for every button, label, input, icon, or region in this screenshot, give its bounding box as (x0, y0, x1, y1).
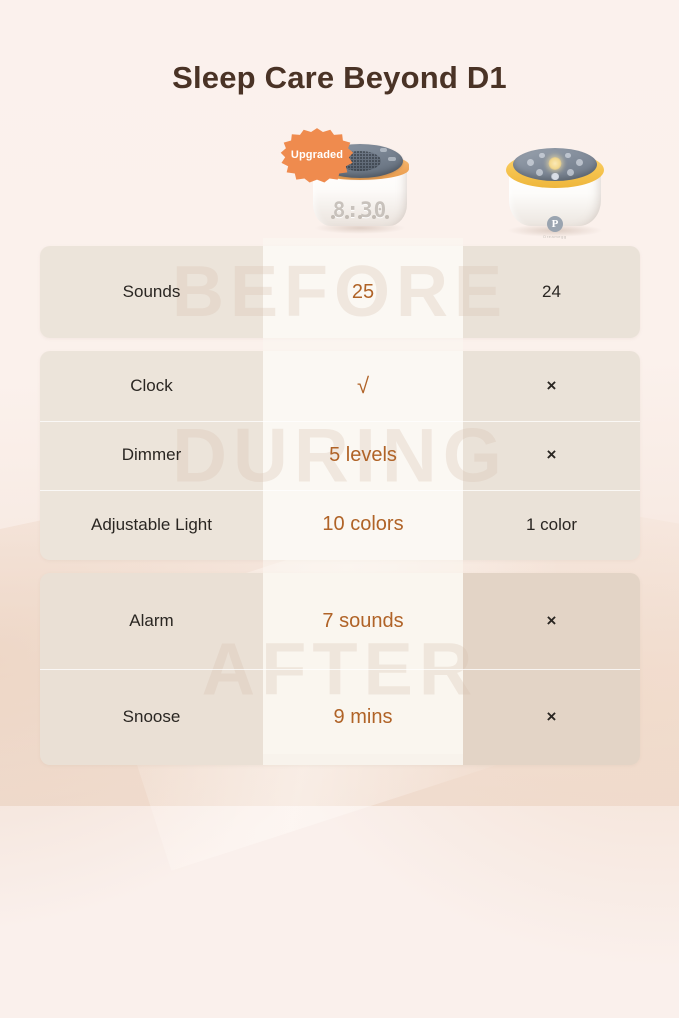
device-button (388, 157, 396, 161)
feature-label: Alarm (40, 573, 263, 669)
new-model-value: 9 mins (263, 669, 463, 765)
indicator-dot-icon (385, 215, 389, 219)
device-button (527, 159, 534, 166)
old-model-value: × (463, 573, 640, 669)
table-row: Sounds 25 24 (40, 246, 640, 338)
old-model-value: × (463, 351, 640, 421)
group-rows: Clock √ × Dimmer 5 levels × Adjustable L… (40, 351, 640, 560)
old-model-value: × (463, 421, 640, 491)
brand-logo-icon: P (547, 216, 563, 232)
page-title: Sleep Care Beyond D1 (0, 60, 679, 96)
table-group-before: BEFORE Sounds 25 24 (40, 246, 640, 338)
feature-label: Snoose (40, 669, 263, 765)
feature-label: Sounds (40, 246, 263, 338)
indicator-dot-icon (358, 215, 362, 219)
brand-name: Dreamegg (543, 234, 566, 239)
device-indicator-row (331, 215, 389, 219)
indicator-dot-icon (345, 215, 349, 219)
table-row: Dimmer 5 levels × (40, 421, 640, 491)
table-group-during: DURING Clock √ × Dimmer 5 levels × Adjus… (40, 351, 640, 560)
new-model-value: 25 (263, 246, 463, 338)
group-rows: Alarm 7 sounds × Snoose 9 mins × (40, 573, 640, 765)
indicator-dot-icon (331, 215, 335, 219)
device-button (567, 169, 574, 176)
device-button (552, 173, 559, 180)
table-row: Snoose 9 mins × (40, 669, 640, 765)
new-model-value: 7 sounds (263, 573, 463, 669)
old-model-value: × (463, 669, 640, 765)
device-button (565, 153, 571, 158)
device-button (539, 153, 545, 158)
feature-label: Clock (40, 351, 263, 421)
brightness-icon (549, 157, 562, 170)
new-model-value: 5 levels (263, 421, 463, 491)
group-rows: Sounds 25 24 (40, 246, 640, 338)
feature-label: Dimmer (40, 421, 263, 491)
table-row: Alarm 7 sounds × (40, 573, 640, 669)
device-old-illustration: P Dreamegg (497, 148, 613, 232)
feature-label: Adjustable Light (40, 490, 263, 560)
product-old-model: P Dreamegg (480, 122, 630, 252)
upgraded-badge-label: Upgraded (291, 149, 343, 161)
new-model-value: √ (263, 351, 463, 421)
device-top-panel (513, 148, 597, 181)
device-button (380, 148, 387, 152)
old-model-value: 1 color (463, 490, 640, 560)
indicator-dot-icon (372, 215, 376, 219)
table-group-after: AFTER Alarm 7 sounds × Snoose 9 mins × (40, 573, 640, 765)
comparison-table: BEFORE Sounds 25 24 DURING Clock √ × Dim… (40, 246, 640, 778)
old-model-value: 24 (463, 246, 640, 338)
table-row: Adjustable Light 10 colors 1 color (40, 490, 640, 560)
device-button (536, 169, 543, 176)
new-model-value: 10 colors (263, 490, 463, 560)
table-row: Clock √ × (40, 351, 640, 421)
upgraded-badge: Upgraded (280, 127, 354, 183)
device-button (576, 159, 583, 166)
